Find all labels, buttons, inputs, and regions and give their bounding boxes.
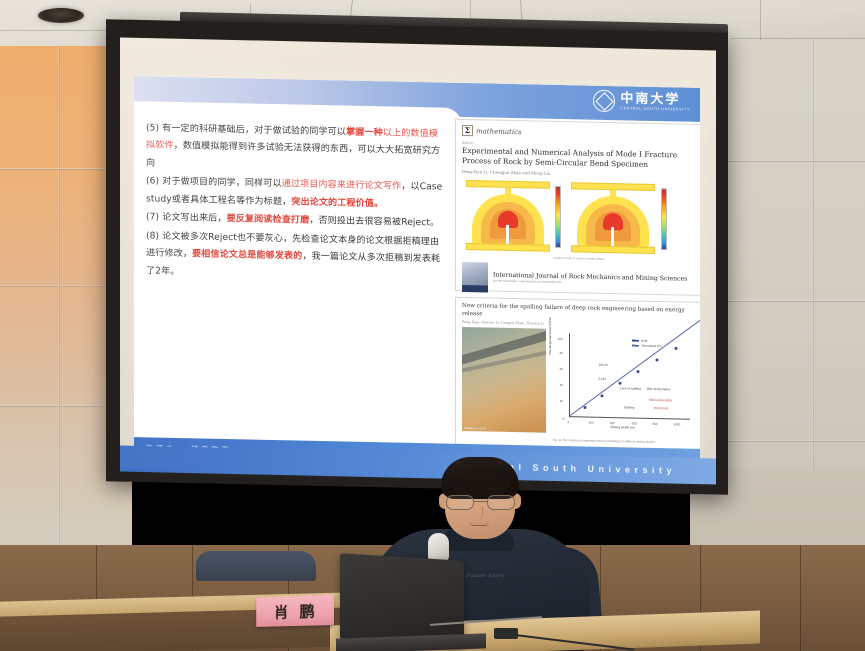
bullet-7-run-1: 要反复阅读检查打磨 [227,214,310,226]
spalling-scatter-chart: Max tangential stress (MPa) Re [549,329,696,436]
chart-ytick: 40 [560,383,563,387]
mdpi-sigma-icon: Σ [462,125,473,136]
fem-figure-row [462,178,696,257]
wall-seam [58,46,60,606]
chair-back [196,551,316,581]
legend-swatch [632,340,639,342]
fem-notch [506,225,509,244]
fem-colorbar [555,186,561,248]
chart-xtick: 200 [589,421,594,425]
chart-data-point [619,382,622,385]
university-logo: 中南大学 CENTRAL SOUTH UNIVERSITY [593,90,690,114]
tunnel-photograph: Spalling process [462,327,546,433]
bullet-8: (8) 论文被多次Reject也不要灰心，先检查论文本身的论文根据拒稿理由进行修… [146,228,445,287]
chart-annotation: Rock burst [654,406,668,410]
chart-annotation: 100.43 [598,363,607,367]
chart-xtick: 800 [653,422,658,426]
university-name-en: CENTRAL SOUTH UNIVERSITY [620,107,690,112]
chart-annotation: Mild rockbursting [649,398,672,402]
glasses-bridge [474,501,487,502]
bullet-5: (5) 有一定的科研基础后，对于做试验的同学可以掌握一种以上的数值模拟软件，数值… [146,120,445,179]
legend-label: Theoretical line [641,344,661,348]
sweater-print: Future Sport [466,573,505,579]
nameplate: 肖 鹏 [256,594,334,627]
slide-bullet-list: (5) 有一定的科研基础后，对于做试验的同学可以掌握一种以上的数值模拟软件，数值… [134,110,451,444]
chart-data-point [601,394,604,397]
legend-label: Real [641,339,647,343]
chart-data-point [656,359,659,362]
lens-right [487,495,515,510]
chart-ylabel: Max tangential stress (MPa) [548,317,552,354]
fem-figure-a [462,178,562,254]
chart-annotation: Lack of spalling [620,386,641,390]
fem-colorbar [661,188,667,250]
paper-figures: Spalling process Max tangential stress (… [462,327,696,436]
chart-ytick: 100 [558,337,563,341]
paper-card-spalling: New criteria for the spalling failure of… [455,297,700,452]
bullet-6: (6) 对于做项目的同学，同样可以通过项目内容来进行论文写作，以Case stu… [146,174,445,215]
csu-seal-icon [593,90,615,112]
bullet-7-run-2: ，否则投出去很容易被Reject。 [309,216,439,229]
lens-left [446,495,474,510]
ceiling-seam [730,38,865,39]
fem-contour-plot [567,180,659,256]
paper-card-mathematics: Σ mathematics Article Experimental and N… [455,119,700,296]
photo-caption: Spalling process [464,426,486,430]
paper-authors: Peng-Xian Li, Chengjun Zhao and Meng Liu [462,169,696,179]
bullet-6-run-0: (6) 对于做项目的同学，同样可以 [146,177,282,190]
figure-caption: Fig. 11 The measured tangential stress i… [553,438,655,444]
presenter-mouth [469,521,489,526]
chart-data-point [584,406,587,409]
chart-xtick: 0 [568,420,570,424]
publisher-name: mathematics [476,127,522,136]
chart-theoretical-line [569,316,700,416]
fem-contour-plot [462,178,554,254]
wood-panel-seam [800,545,801,651]
laptop-icon[interactable] [340,553,464,647]
chart-data-point [674,347,677,350]
nameplate-char-1: 肖 [274,601,289,622]
chart-ytick: 0 [563,417,565,421]
chart-ytick: 20 [560,399,563,403]
bullet-6-run-3: 突出论文的工程价值。 [291,197,383,209]
fem-support-beam [466,243,550,252]
chart-ytick: 80 [560,351,563,355]
slide-body: (5) 有一定的科研基础后，对于做试验的同学可以掌握一种以上的数值模拟软件，数值… [134,110,700,449]
chart-ytick: 60 [560,367,563,371]
ceiling-seam [760,0,761,40]
chart-axes: Real Theoretical line 100.43 64.84 Lack … [569,333,690,420]
bullet-5-run-3: ，数值模拟能得到许多试验无法获得的东西，可以大大拓宽研究方向 [146,141,440,168]
chart-xtick: 1000 [674,422,681,426]
bullet-5-run-1: 掌握一种 [346,128,383,139]
presenter-eye-right [498,461,503,464]
journal-row: International Journal of Rock Mechanics … [462,262,696,297]
legend-swatch [632,345,639,347]
cable-connector [494,628,518,639]
chart-annotation: Spalling [624,405,635,409]
slide-paper-thumbnails: Σ mathematics Article Experimental and N… [451,117,700,449]
journal-cover-icon [462,262,488,293]
chart-annotation: 64.84 [598,377,606,381]
presenter-nose [474,507,483,519]
chart-xlabel: Mining Depth (m) [610,425,634,430]
nameplate-char-2: 鹏 [300,600,315,622]
university-name-cn: 中南大学 [620,92,690,106]
bullet-8-run-1: 要相信论文总是能够发表的 [192,249,302,261]
bullet-6-run-1: 通过项目内容来进行论文写作 [282,180,402,193]
publisher-row: Σ mathematics [462,125,696,141]
lecture-hall-scene: 中南大学 CENTRAL SOUTH UNIVERSITY (5) 有一定的科研… [0,0,865,651]
projected-slide: 中南大学 CENTRAL SOUTH UNIVERSITY (5) 有一定的科研… [134,76,700,471]
fem-figure-b [567,180,667,256]
bullet-7-run-0: (7) 论文写出来后， [146,213,227,225]
chart-legend: Real Theoretical line [632,339,661,350]
presenter-eye-left [456,461,461,464]
recessed-light-icon [38,8,84,23]
chart-data-point [637,371,640,374]
presenter-hair [441,457,519,499]
chart-annotation: Mild mining failure [647,386,671,391]
paper-title: Experimental and Numerical Analysis of M… [462,146,696,171]
fem-notch [611,227,614,246]
bullet-5-run-0: (5) 有一定的科研基础后，对于做试验的同学可以 [146,123,346,137]
fem-support-beam [571,245,655,254]
